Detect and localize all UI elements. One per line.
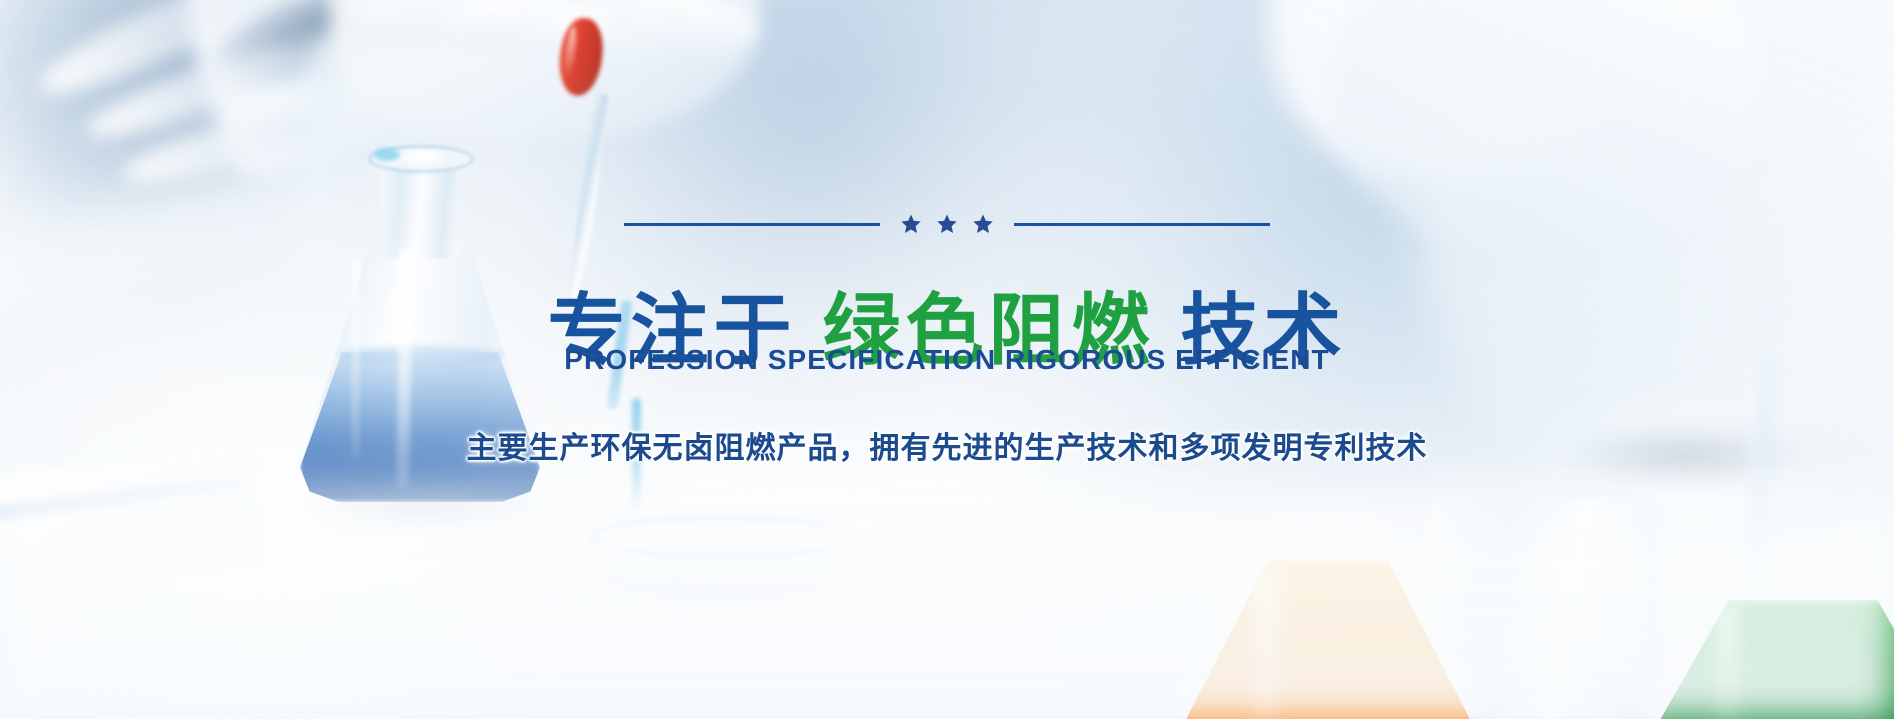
flask-liquid-surface — [338, 346, 504, 364]
hero-banner: 专注于绿色阻燃技术 PROFESSION SPECIFICATION RIGOR… — [0, 0, 1894, 719]
flask-rim-teal-residue — [374, 148, 400, 161]
lab-background-photo — [0, 0, 1894, 719]
bench-surface — [0, 470, 1894, 719]
flask-highlight — [352, 258, 359, 458]
